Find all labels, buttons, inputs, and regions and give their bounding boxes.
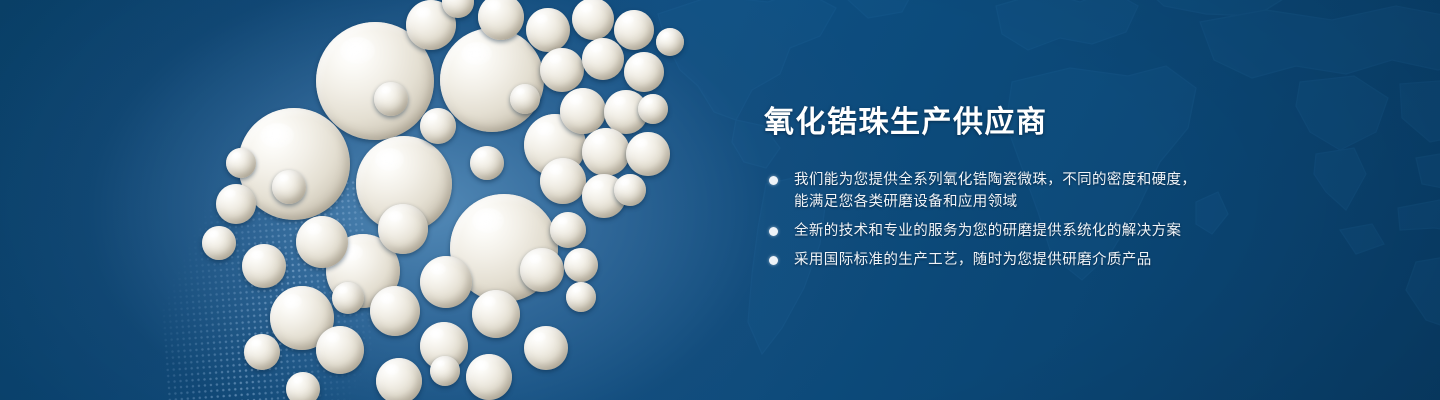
bullet-line-primary: 我们能为您提供全系列氧化锆陶瓷微珠，不同的密度和硬度， — [794, 172, 1196, 188]
list-item: 采用国际标准的生产工艺，随时为您提供研磨介质产品 — [764, 249, 1284, 271]
dot-bullet-icon — [769, 176, 778, 185]
bullet-line-secondary: 能满足您各类研磨设备和应用领域 — [794, 191, 1284, 213]
dot-bullet-icon — [769, 256, 778, 265]
hero-banner: 氧化锆珠生产供应商 我们能为您提供全系列氧化锆陶瓷微珠，不同的密度和硬度， 能满… — [0, 0, 1440, 400]
feature-bullet-list: 我们能为您提供全系列氧化锆陶瓷微珠，不同的密度和硬度， 能满足您各类研磨设备和应… — [764, 169, 1284, 271]
bullet-line-primary: 采用国际标准的生产工艺，随时为您提供研磨介质产品 — [794, 252, 1152, 268]
bullet-line-primary: 全新的技术和专业的服务为您的研磨提供系统化的解决方案 — [794, 223, 1181, 239]
banner-copy-block: 氧化锆珠生产供应商 我们能为您提供全系列氧化锆陶瓷微珠，不同的密度和硬度， 能满… — [764, 104, 1284, 278]
list-item: 全新的技术和专业的服务为您的研磨提供系统化的解决方案 — [764, 220, 1284, 242]
list-item: 我们能为您提供全系列氧化锆陶瓷微珠，不同的密度和硬度， 能满足您各类研磨设备和应… — [764, 169, 1284, 213]
page-title: 氧化锆珠生产供应商 — [764, 104, 1284, 142]
dot-bullet-icon — [769, 227, 778, 236]
